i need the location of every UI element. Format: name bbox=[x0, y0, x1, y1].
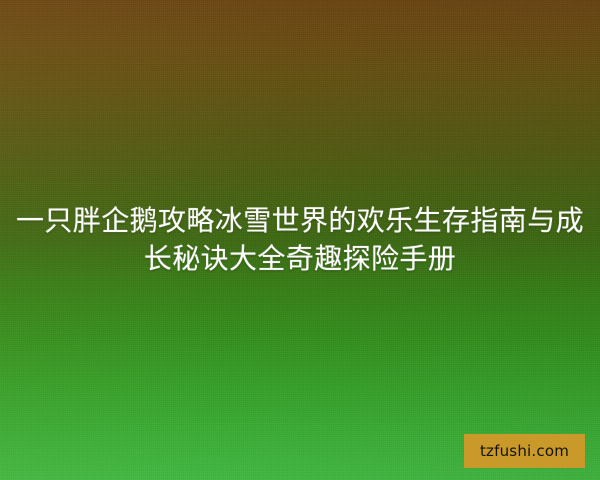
cover-image-canvas: 一只胖企鹅攻略冰雪世界的欢乐生存指南与成长秘诀大全奇趣探险手册 tzfushi.… bbox=[0, 0, 600, 480]
cover-title: 一只胖企鹅攻略冰雪世界的欢乐生存指南与成长秘诀大全奇趣探险手册 bbox=[0, 202, 600, 278]
watermark-label: tzfushi.com bbox=[480, 444, 569, 459]
watermark-badge[interactable]: tzfushi.com bbox=[464, 434, 585, 468]
cover-title-text: 一只胖企鹅攻略冰雪世界的欢乐生存指南与成长秘诀大全奇趣探险手册 bbox=[16, 202, 584, 278]
